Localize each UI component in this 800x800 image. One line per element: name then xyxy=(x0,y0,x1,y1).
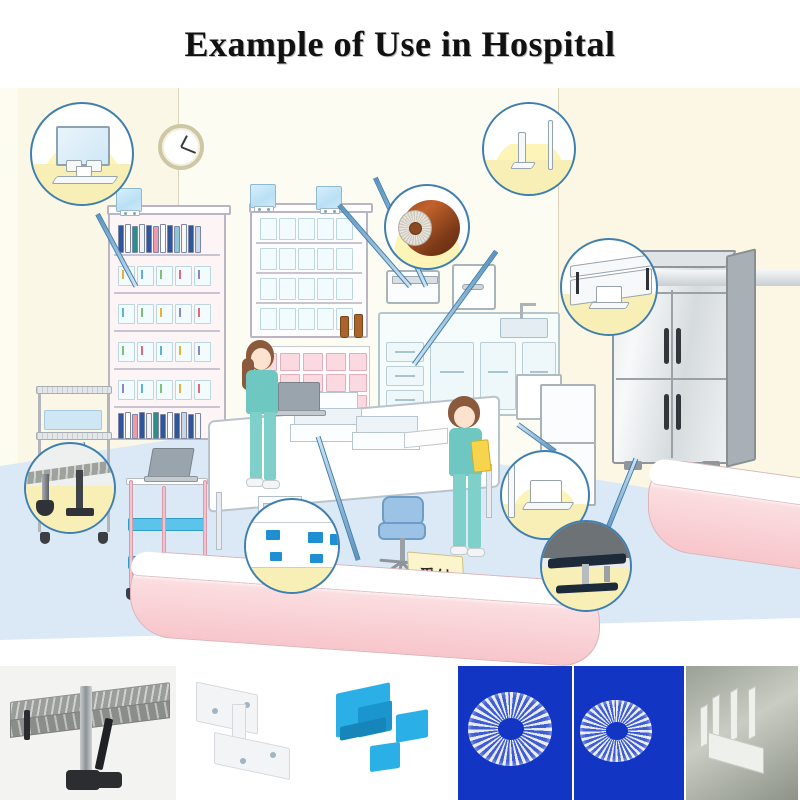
sink-basin xyxy=(500,318,548,338)
rack-caster xyxy=(40,532,50,544)
perforated-disc-small xyxy=(580,700,652,762)
medicine-cabinet-right xyxy=(250,210,368,338)
anti-slip-pad xyxy=(308,532,323,543)
shoe xyxy=(450,546,468,555)
photo-clear-perforated-discs-2 xyxy=(574,666,686,800)
wall-edge xyxy=(508,462,515,518)
medicine-bottle xyxy=(340,316,349,338)
anti-slip-pad xyxy=(330,534,340,545)
anti-slip-pad xyxy=(266,530,280,540)
wall-edge xyxy=(548,120,553,170)
scrubs-pants xyxy=(468,474,481,548)
page-title: Example of Use in Hospital xyxy=(184,23,615,65)
shoe xyxy=(262,480,280,489)
anti-slip-pad-small xyxy=(370,742,400,772)
anti-slip-pad xyxy=(270,552,282,561)
rack-deck xyxy=(36,432,112,440)
monitor-screen xyxy=(56,126,110,166)
leg-stopper-shaft xyxy=(76,470,83,512)
bracket-screw-hole xyxy=(212,708,218,714)
appliance-underside xyxy=(542,522,632,558)
title-bar: Example of Use in Hospital xyxy=(0,0,800,88)
rack-deck-closeup xyxy=(26,460,116,485)
bracket-wall-plate xyxy=(196,681,258,734)
l-bracket-foot xyxy=(510,162,536,169)
pharmacy-drawer xyxy=(349,353,367,371)
callout-rack-leg-stopper xyxy=(24,442,116,534)
cart-laptop-base xyxy=(144,476,198,482)
medicine-bookcase-left xyxy=(108,212,226,440)
product-photo-strip xyxy=(0,666,800,800)
callout-anti-slip-pads xyxy=(244,498,340,594)
pharmacy-drawer xyxy=(326,374,346,392)
clear-tray-row xyxy=(260,218,353,240)
disc-center-hole xyxy=(498,718,524,740)
bracket-base-plate xyxy=(214,732,290,780)
retaining-clip xyxy=(748,686,756,740)
leveler-pin xyxy=(604,566,610,582)
counter-device-printer xyxy=(386,270,440,304)
anti-tip-sensor-plate xyxy=(250,184,276,208)
shelf xyxy=(114,368,220,370)
shelf xyxy=(114,406,220,408)
fridge-handle xyxy=(664,328,669,364)
fridge-handle xyxy=(664,394,669,430)
binder-row xyxy=(118,224,201,253)
anti-slip-pad xyxy=(310,554,323,563)
nurse-at-laptop xyxy=(238,340,286,520)
photo-clear-perforated-discs xyxy=(458,666,574,800)
scrubs-pants xyxy=(453,474,466,548)
retaining-clip xyxy=(700,704,708,748)
shelf xyxy=(256,242,362,244)
callout-wall-l-bracket xyxy=(482,102,576,196)
counter-drawer xyxy=(386,366,424,386)
rack-post-photo xyxy=(80,686,92,778)
clear-tray-row xyxy=(260,248,353,270)
bubble-wall xyxy=(484,104,576,144)
face xyxy=(454,406,475,428)
leg-stopper-base xyxy=(66,508,94,516)
callout-tape-roll xyxy=(384,184,470,270)
medicine-bottle xyxy=(354,314,363,338)
stored-supplies xyxy=(44,410,102,430)
callout-fridge-leveler xyxy=(540,520,632,612)
pharmacy-drawer xyxy=(349,374,367,392)
side-edge xyxy=(646,268,649,290)
pharmacy-drawer xyxy=(303,353,323,371)
hospital-scene-illustration: 受付 xyxy=(0,88,800,666)
tray-row xyxy=(118,380,211,400)
page-root: Example of Use in Hospital xyxy=(0,0,800,800)
rack-leg-photo xyxy=(24,710,30,740)
bracket-screw-hole xyxy=(270,752,276,758)
face xyxy=(251,348,271,370)
bracket-screw-hole xyxy=(240,758,246,764)
photo-rack-leg-stopper xyxy=(0,666,178,800)
clear-tray-row xyxy=(260,278,353,300)
scrubs-pants xyxy=(250,412,262,480)
rack-caster xyxy=(98,532,108,544)
tray-row xyxy=(118,304,211,324)
leg-stopper-pad xyxy=(96,772,122,788)
pharmacy-drawer xyxy=(326,353,346,371)
fridge-door-divider-v xyxy=(671,290,673,458)
cart-blue-shelf xyxy=(128,518,206,531)
shelf xyxy=(256,302,362,304)
rack-deck xyxy=(36,386,112,394)
photo-wall-anti-tip-bracket xyxy=(178,666,330,800)
monitor-base xyxy=(51,176,118,184)
photo-blue-anti-slip-pads xyxy=(330,666,458,800)
shoe xyxy=(467,548,485,557)
callout-monitor-anti-tip xyxy=(30,102,134,206)
binder-row xyxy=(118,412,201,439)
tape-roll-core xyxy=(409,222,422,235)
fridge-side-panel xyxy=(726,248,756,467)
retaining-clip xyxy=(730,688,738,742)
photo-white-plastic-holders xyxy=(686,666,800,800)
tray-row xyxy=(118,342,211,362)
shelf xyxy=(114,254,220,256)
shelf xyxy=(114,292,220,294)
faucet-spout xyxy=(520,303,536,306)
fridge-handle xyxy=(676,394,681,430)
shelf xyxy=(114,330,220,332)
perforated-disc-large xyxy=(468,692,552,766)
wall-clock-icon xyxy=(158,124,204,170)
side-edge xyxy=(576,272,579,294)
scrubs-top xyxy=(246,370,278,414)
callout-appliance-foot-bracket xyxy=(560,238,658,336)
disc-center-hole xyxy=(606,722,628,740)
document-folder xyxy=(470,439,491,473)
shelf xyxy=(256,272,362,274)
anti-slip-pad-medium xyxy=(396,709,428,743)
scrubs-pants xyxy=(264,412,276,480)
cart-laptop-screen xyxy=(147,448,194,478)
furniture-base xyxy=(246,522,340,568)
desk-leg xyxy=(216,492,222,550)
fridge-handle xyxy=(676,328,681,364)
cabinet-bracket-plate xyxy=(522,502,575,510)
leg-stopper-foot xyxy=(66,770,100,790)
foot-bracket-plate xyxy=(588,302,630,309)
faucet xyxy=(520,304,523,319)
l-bracket-vertical xyxy=(518,132,526,166)
